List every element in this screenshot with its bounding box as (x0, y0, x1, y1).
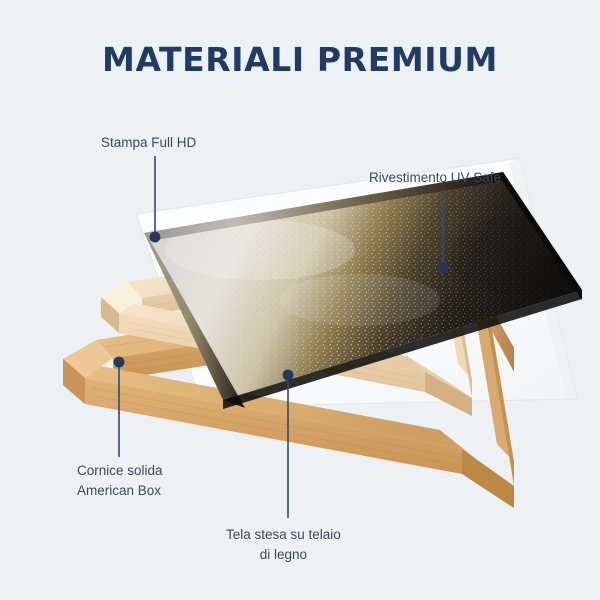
illustration-stage: MATERIALI PREMIUM (0, 0, 600, 600)
marker-dot-stampa (150, 232, 161, 243)
exploded-product-illustration (0, 0, 600, 600)
marker-dot-tela (283, 370, 294, 381)
callout-label-cornice-solida-american-box: Cornice solida American Box (77, 461, 163, 500)
callout-label-tela-stesa-su-telaio: Tela stesa su telaio di legno (226, 525, 341, 564)
marker-dot-cornice (114, 357, 125, 368)
callout-label-stampa-full-hd: Stampa Full HD (101, 133, 196, 153)
callout-label-rivestimento-uv-safe: Rivestimento UV Safe (369, 168, 501, 188)
marker-dot-uv (438, 263, 449, 274)
